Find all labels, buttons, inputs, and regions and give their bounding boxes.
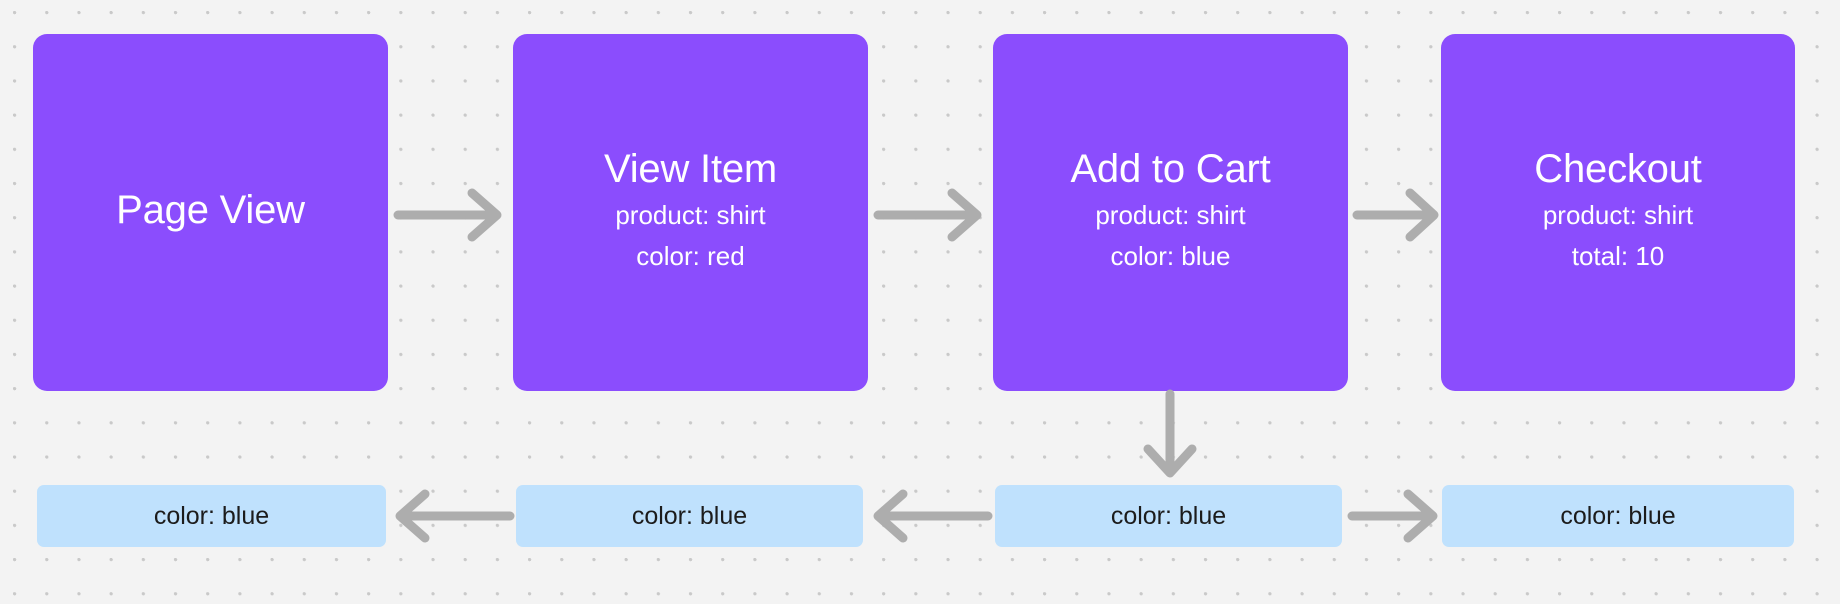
event-node-title: Add to Cart bbox=[1070, 148, 1270, 190]
event-node-property: color: blue bbox=[1111, 236, 1231, 277]
event-node-property: product: shirt bbox=[1543, 195, 1693, 236]
event-node-view-item[interactable]: View Item product: shirt color: red bbox=[513, 34, 868, 391]
edge-viewitem-addtocart-arrow bbox=[876, 185, 986, 245]
event-node-property: color: red bbox=[636, 236, 744, 277]
event-node-title: View Item bbox=[604, 148, 777, 190]
property-node-3[interactable]: color: blue bbox=[995, 485, 1342, 547]
event-node-title: Checkout bbox=[1534, 148, 1701, 190]
property-node-4[interactable]: color: blue bbox=[1442, 485, 1794, 547]
event-node-checkout[interactable]: Checkout product: shirt total: 10 bbox=[1441, 34, 1795, 391]
edge-pageview-viewitem-arrow bbox=[396, 185, 506, 245]
edge-addtocart-property3-arrow bbox=[1140, 392, 1200, 484]
event-node-property: product: shirt bbox=[1095, 195, 1245, 236]
event-node-title: Page View bbox=[116, 189, 305, 231]
edge-addtocart-checkout-arrow bbox=[1355, 185, 1443, 245]
event-node-properties: product: shirt color: red bbox=[615, 195, 765, 277]
event-node-properties: product: shirt total: 10 bbox=[1543, 195, 1693, 277]
event-node-add-to-cart[interactable]: Add to Cart product: shirt color: blue bbox=[993, 34, 1348, 391]
property-node-2[interactable]: color: blue bbox=[516, 485, 863, 547]
property-node-label: color: blue bbox=[1111, 504, 1226, 529]
property-node-label: color: blue bbox=[154, 504, 269, 529]
edge-property3-property4-arrow bbox=[1350, 486, 1442, 546]
event-node-properties: product: shirt color: blue bbox=[1095, 195, 1245, 277]
flow-diagram-canvas[interactable]: Page View View Item product: shirt color… bbox=[0, 0, 1840, 604]
event-node-property: total: 10 bbox=[1572, 236, 1665, 277]
property-node-label: color: blue bbox=[1560, 504, 1675, 529]
event-node-page-view[interactable]: Page View bbox=[33, 34, 388, 391]
event-node-property: product: shirt bbox=[615, 195, 765, 236]
property-node-1[interactable]: color: blue bbox=[37, 485, 386, 547]
edge-property3-property2-arrow bbox=[870, 486, 990, 546]
property-node-label: color: blue bbox=[632, 504, 747, 529]
edge-property2-property1-arrow bbox=[392, 486, 512, 546]
